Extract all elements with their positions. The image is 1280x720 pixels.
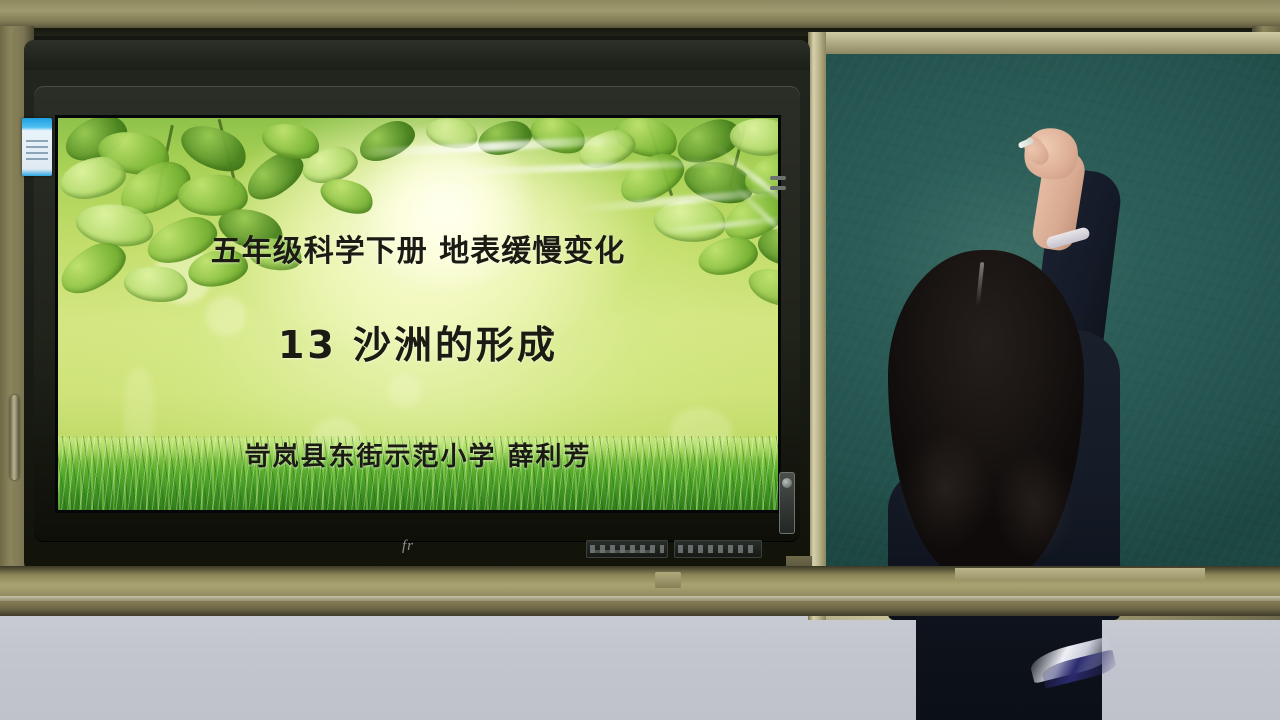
slide-title-text: 13 沙洲的形成 (58, 314, 778, 369)
whiteboard-brand-logo: fr (402, 538, 414, 555)
teacher-hair-wave (900, 430, 990, 550)
control-dots-icon (678, 545, 758, 553)
slide-header-text: 五年级科学下册 地表缓慢变化 (58, 226, 778, 270)
whiteboard-slide-rail (24, 40, 810, 70)
chalk-ledge-tab (655, 572, 681, 588)
asset-sticker-icon (22, 118, 52, 176)
classroom-scene: 13 沙洲 (0, 0, 1280, 720)
control-line-icon (590, 550, 652, 553)
whiteboard-control-module-b[interactable] (674, 540, 762, 558)
whiteboard-sensor-nub-icon (770, 176, 786, 180)
chalk-ledge-groove (0, 596, 1280, 601)
slide-footer-text: 岢岚县东街示范小学 薛利芳 (58, 436, 778, 473)
whiteboard-power-knob-icon[interactable] (782, 478, 792, 488)
slide-bokeh (388, 374, 422, 408)
whiteboard-control-module-a[interactable] (586, 540, 668, 558)
teacher-hair-wave (995, 450, 1075, 560)
whiteboard-screen[interactable]: 五年级科学下册 地表缓慢变化 13 沙洲的形成 岢岚县东街示范小学 薛利芳 (58, 118, 778, 510)
whiteboard-sensor-nub-icon (770, 186, 786, 190)
chalk-ledge-plank (955, 568, 1205, 580)
